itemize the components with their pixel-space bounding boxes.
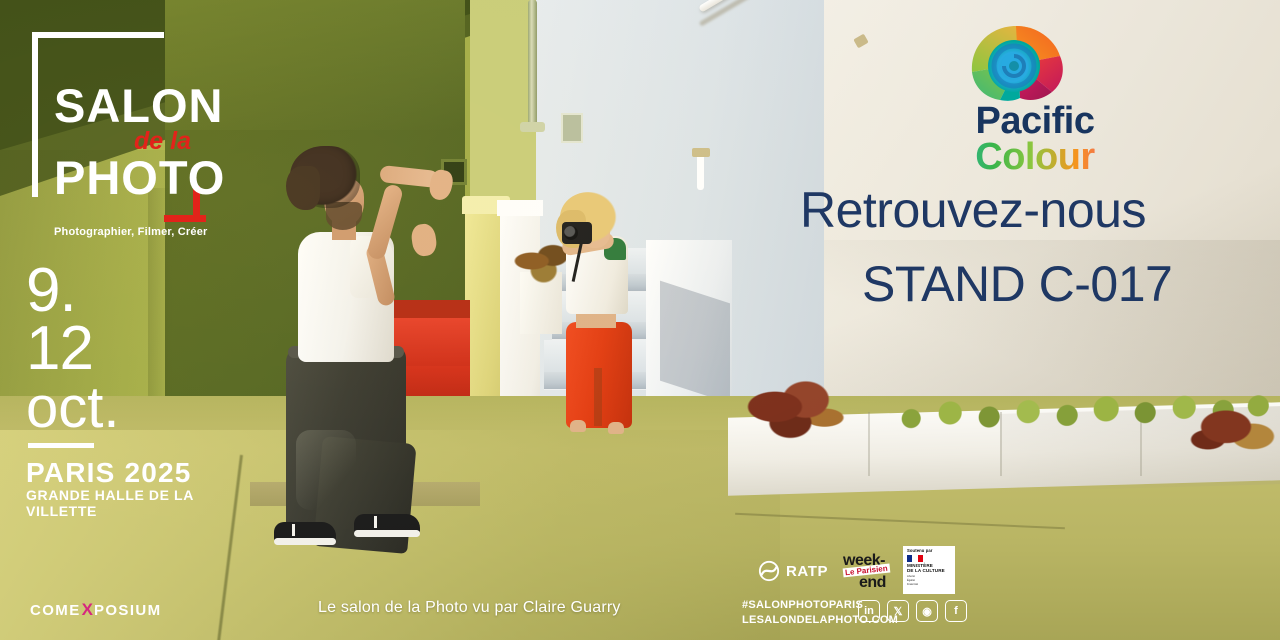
instagram-icon[interactable]: ◉ <box>916 600 938 622</box>
ministry-motto: Liberté Égalité Fraternité <box>907 575 951 587</box>
man-shoe-right-sole <box>354 530 420 537</box>
logo-tagline: Photographier, Filmer, Créer <box>54 226 208 238</box>
x-twitter-icon[interactable]: 𝕏 <box>887 600 909 622</box>
promotional-banner: SALON de la PHOTO Photographier, Filmer,… <box>0 0 1280 640</box>
comexposium-x-icon: X <box>82 600 93 620</box>
ratp-label: RATP <box>786 563 828 580</box>
event-city: PARIS 2025 <box>26 458 256 487</box>
date-underline <box>28 443 94 448</box>
comexposium-part1: COME <box>30 602 81 619</box>
ratp-logo-icon <box>758 560 780 582</box>
drain-pipe <box>528 0 537 128</box>
date-day-from: 9. <box>26 262 256 319</box>
woman-foot-right <box>608 422 624 434</box>
man-hair-side <box>286 166 320 210</box>
salon-de-la-photo-logo: SALON de la PHOTO Photographier, Filmer,… <box>26 26 241 241</box>
white-pilaster-cap <box>497 200 543 216</box>
pacific-colour-logo: Pacific Colour <box>940 18 1130 166</box>
linkedin-icon[interactable]: in <box>858 600 880 622</box>
event-date-block: 9. 12 oct. PARIS 2025 GRANDE HALLE DE LA… <box>26 262 256 519</box>
man-trouser-highlight <box>296 430 356 510</box>
comexposium-logo: COME X POSIUM <box>30 600 162 620</box>
headline-line-2: STAND C-017 <box>862 256 1250 312</box>
headline-line-1: Retrouvez-nous <box>800 182 1250 238</box>
nautilus-shell-icon <box>962 18 1074 106</box>
event-venue: GRANDE HALLE DE LA VILLETTE <box>26 487 256 519</box>
man-shoe-left-sole <box>274 538 336 545</box>
wall-vent-small <box>561 113 583 143</box>
camera-lens-icon <box>564 226 578 240</box>
woman-trouser-shadow <box>594 368 602 426</box>
french-flag-icon <box>907 555 923 562</box>
woman-figure <box>546 192 656 432</box>
social-handles: #SALONPHOTOPARIS LESALONDELAPHOTO.COM <box>742 598 852 628</box>
logo-word-photo: PHOTO <box>54 154 225 201</box>
exhibitor-headline: Retrouvez-nous STAND C-017 <box>800 182 1250 312</box>
facebook-icon[interactable]: f <box>945 600 967 622</box>
ministry-of-culture-logo: Soutenu par MINISTÈRE DE LA CULTURE Libe… <box>903 546 955 594</box>
logo-frame-left <box>32 32 38 197</box>
supported-by-label: Soutenu par <box>907 549 951 553</box>
man-shoe-left-stripe <box>292 524 295 536</box>
colour-wordmark: Colour <box>940 138 1130 176</box>
comexposium-part2: POSIUM <box>94 602 162 619</box>
logo-word-salon: SALON <box>54 82 224 129</box>
woman-foot-left <box>570 420 586 432</box>
red-foliage-plant <box>742 378 852 450</box>
man-shoe-right-stripe <box>374 516 377 528</box>
red-foliage-plant-right <box>1190 398 1280 462</box>
ratp-partner-logo: RATP <box>758 560 828 582</box>
man-lower-hand <box>410 222 438 257</box>
man-figure <box>262 140 462 550</box>
drain-pipe-cap <box>520 122 545 132</box>
event-hashtag: #SALONPHOTOPARIS <box>742 598 852 613</box>
pacific-wordmark: Pacific <box>940 102 1130 140</box>
event-website: LESALONDELAPHOTO.COM <box>742 613 852 628</box>
weekend-word-bottom: end <box>859 574 886 592</box>
date-month: oct. <box>26 379 256 437</box>
weekend-le-parisien-logo: week- Le Parisien end <box>843 552 903 594</box>
ministry-name-line2: DE LA CULTURE <box>907 569 951 574</box>
photo-credit: Le salon de la Photo vu par Claire Guarr… <box>318 599 621 617</box>
handrail-bracket-lower <box>692 148 710 157</box>
planter-seam-1 <box>868 412 870 476</box>
man-upper-arm <box>366 183 404 261</box>
logo-frame-top <box>32 32 164 38</box>
social-icon-row[interactable]: in 𝕏 ◉ f <box>858 600 967 622</box>
date-day-to: 12 <box>26 319 256 379</box>
